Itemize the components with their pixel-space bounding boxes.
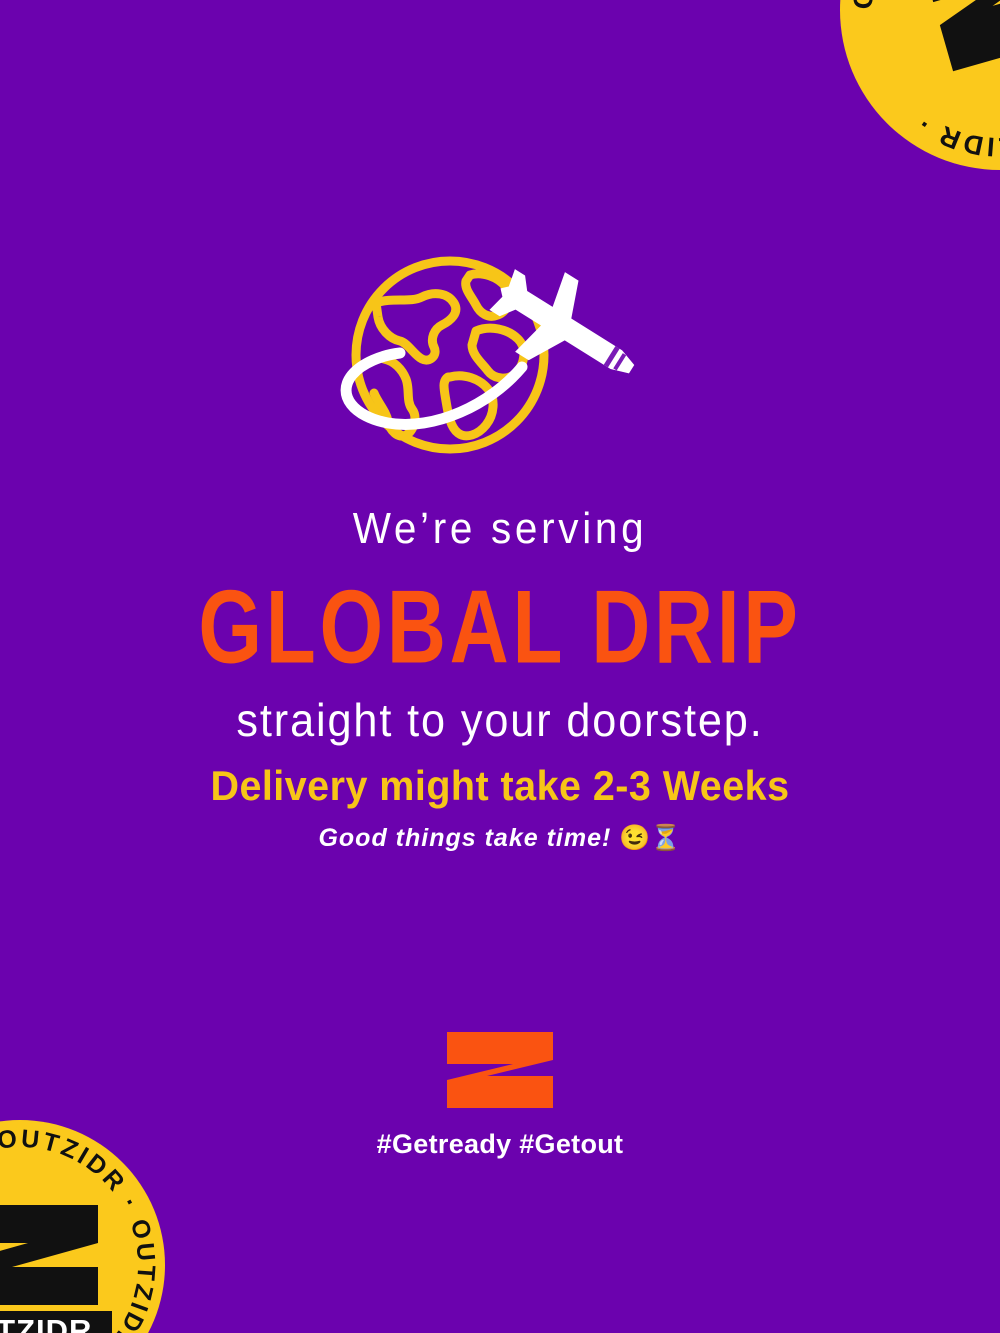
page-title: GLOBAL DRIP	[35, 575, 965, 679]
hero-subheadline: straight to your doorstep.	[30, 695, 970, 746]
wink-hourglass-emoji: 😉⏳	[619, 824, 681, 852]
z-logo-shape	[447, 1032, 553, 1108]
hero-copy: We’re serving GLOBAL DRIP straight to yo…	[0, 505, 1000, 746]
promo-poster: OUTZIDR · OUTZIDR · OUTZIDR · OUTZIDR · …	[0, 0, 1000, 1333]
outzidr-z-logo	[445, 1030, 555, 1115]
delivery-reassurance: Good things take time! 😉⏳	[0, 824, 1000, 853]
delivery-notice-block: Delivery might take 2-3 Weeks Good thing…	[0, 762, 1000, 853]
delivery-notice: Delivery might take 2-3 Weeks	[30, 762, 970, 810]
hero-eyebrow: We’re serving	[40, 505, 960, 553]
badge-wordmark-text: OUTZIDR	[0, 1313, 92, 1333]
badge-wordmark: OUTZIDR	[0, 1311, 112, 1333]
globe-airplane-icon	[330, 255, 670, 470]
footer-hashtags: #Getready #Getout	[0, 1129, 1000, 1160]
badge-top-right: OUTZIDR · OUTZIDR · OUTZIDR · OUTZIDR ·	[835, 0, 1000, 175]
footer-brand: #Getready #Getout	[0, 1030, 1000, 1160]
delivery-reassurance-text: Good things take time!	[318, 824, 611, 852]
